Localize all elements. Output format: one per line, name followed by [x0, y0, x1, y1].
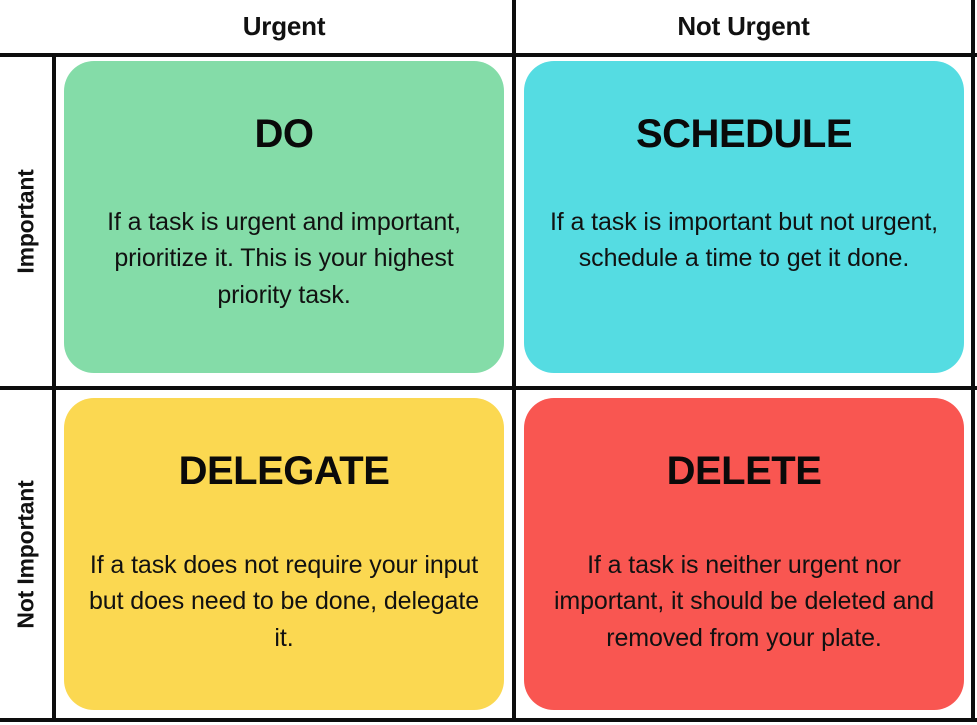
quadrant-card-schedule[interactable]: SCHEDULE If a task is important but not …	[524, 61, 964, 373]
quadrant-title-delegate: DELEGATE	[179, 451, 390, 491]
grid-line-label-column	[52, 53, 56, 718]
quadrant-body-schedule: If a task is important but not urgent, s…	[546, 204, 942, 277]
quadrant-title-delete: DELETE	[667, 451, 822, 491]
quadrant-body-do: If a task is urgent and important, prior…	[86, 204, 482, 313]
quadrant-title-do: DO	[255, 114, 314, 154]
quadrant-body-delete: If a task is neither urgent nor importan…	[546, 547, 942, 656]
quadrant-card-delegate[interactable]: DELEGATE If a task does not require your…	[64, 398, 504, 710]
column-header-urgent: Urgent	[56, 0, 512, 53]
row-header-not-important: Not Important	[0, 390, 52, 718]
row-header-important: Important	[0, 57, 52, 386]
column-header-not-urgent: Not Urgent	[516, 0, 971, 53]
eisenhower-matrix: Urgent Not Urgent Important Not Importan…	[0, 0, 977, 725]
row-header-important-label: Important	[13, 169, 40, 273]
grid-line-middle-horizontal	[0, 386, 977, 390]
grid-line-header-bottom	[0, 53, 977, 57]
row-header-not-important-label: Not Important	[13, 480, 40, 628]
quadrant-card-delete[interactable]: DELETE If a task is neither urgent nor i…	[524, 398, 964, 710]
grid-line-bottom	[0, 718, 977, 722]
grid-line-center-vertical	[512, 0, 516, 718]
grid-line-right	[971, 0, 975, 718]
quadrant-card-do[interactable]: DO If a task is urgent and important, pr…	[64, 61, 504, 373]
quadrant-body-delegate: If a task does not require your input bu…	[86, 547, 482, 656]
quadrant-title-schedule: SCHEDULE	[636, 114, 852, 154]
